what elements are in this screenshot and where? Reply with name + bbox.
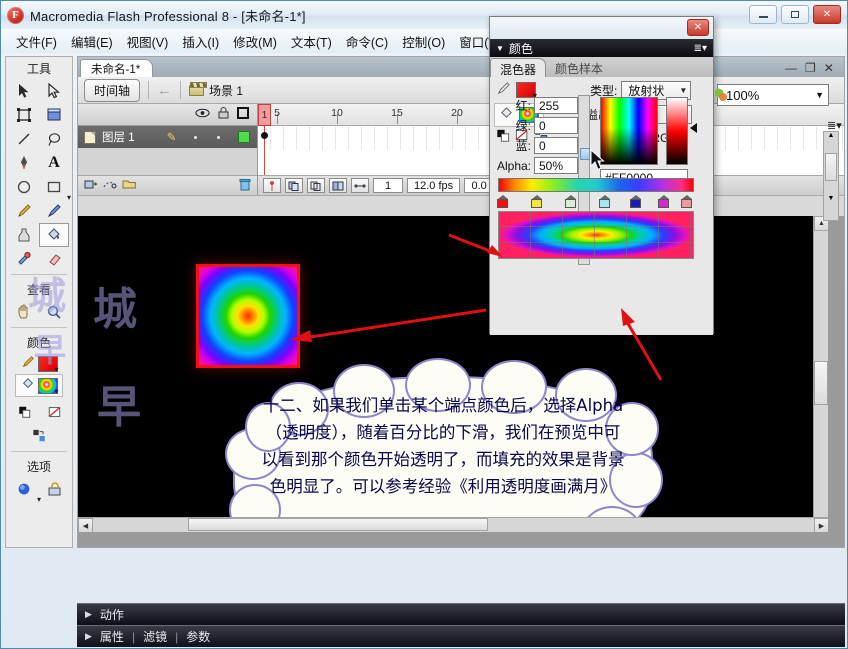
chevron-down-icon[interactable]: ▼ — [815, 90, 824, 100]
pen-tool[interactable] — [9, 151, 39, 175]
toolbar-divider-2 — [11, 327, 67, 328]
colors-section-title: 颜色 — [6, 331, 72, 353]
title-bar: F Macromedia Flash Professional 8 - [未命名… — [1, 1, 847, 29]
color-mixer-panel: ✕ ▼ 颜色 ≣▾ 混色器 颜色样本 ▾ ▾ — [489, 16, 714, 334]
ruler-number: 20 — [451, 107, 463, 119]
timeline-button[interactable]: 时间轴 — [84, 79, 140, 102]
toolbar-divider-2 — [180, 81, 181, 99]
tab-filters[interactable]: 滤镜 — [143, 628, 167, 645]
field-green: 绿: 0 — [494, 117, 578, 134]
tab-swatches[interactable]: 颜色样本 — [546, 58, 612, 77]
bubble-lobe — [333, 364, 395, 418]
tab-parameters[interactable]: 参数 — [186, 628, 210, 645]
layer-column: 图层 1 ✎ — [78, 104, 258, 195]
swap-colors-icon[interactable] — [24, 424, 54, 448]
lasso-tool[interactable] — [39, 127, 69, 151]
options-section-title: 选项 — [6, 455, 72, 477]
back-arrow-icon[interactable]: ← — [157, 82, 172, 99]
gradient-preview — [498, 211, 694, 259]
tools-section-title: 工具 — [6, 57, 72, 79]
mouse-cursor-icon — [590, 149, 606, 171]
annotation-arrow-preview — [613, 306, 668, 384]
actions-panel[interactable]: ▶ 动作 — [77, 603, 845, 625]
window-controls: ✕ — [749, 5, 841, 24]
oval-tool[interactable] — [9, 175, 39, 199]
timeline-area: 图层 1 ✎ — [78, 104, 844, 196]
transparency-grid — [499, 212, 693, 258]
menu-insert[interactable]: 插入(I) — [175, 30, 226, 53]
layer-column-header — [78, 104, 257, 126]
current-frame-field[interactable]: 1 — [373, 178, 403, 193]
zoom-tool[interactable] — [39, 300, 69, 324]
fill-color-row: ▾ — [15, 374, 63, 397]
luminance-marker-icon — [690, 123, 697, 133]
blue-label: 蓝: — [516, 137, 531, 154]
cp-rgba-fields: 红: 255 绿: 0 蓝: 0 Alpha: 50% — [494, 97, 578, 174]
document-tab[interactable]: 未命名-1* — [80, 59, 153, 77]
pencil-stroke-icon — [21, 355, 35, 372]
onion-skin-outlines-icon[interactable] — [307, 178, 325, 193]
outline-icon[interactable] — [237, 107, 249, 122]
brush-tool[interactable] — [39, 199, 69, 223]
ruler-number: 10 — [331, 107, 343, 119]
menu-text[interactable]: 文本(T) — [284, 30, 339, 53]
doc-restore-button[interactable]: ❐ — [805, 61, 816, 75]
fill-color-swatch[interactable]: ▾ — [38, 378, 58, 394]
hand-tool[interactable] — [9, 300, 39, 324]
color-panel-title: 颜色 — [509, 40, 533, 57]
bubble-lobe — [605, 402, 659, 456]
panel-separator: | — [132, 630, 135, 644]
hscroll-thumb[interactable] — [188, 518, 488, 531]
tab-mixer[interactable]: 混色器 — [490, 58, 546, 77]
paint-bucket-tool[interactable] — [39, 223, 69, 247]
annotation-arrow-alpha — [447, 233, 509, 261]
color-panel-titlebar[interactable]: ▼ 颜色 ≣▾ — [490, 39, 713, 57]
options-grid: ▾ — [6, 477, 72, 501]
menu-modify[interactable]: 修改(M) — [226, 30, 284, 53]
black-and-white-icon[interactable] — [9, 400, 39, 424]
document-tabstrip: 未命名-1* — [78, 57, 844, 77]
menu-file[interactable]: 文件(F) — [9, 30, 64, 53]
doc-window-controls: — ❐ ✕ — [785, 61, 834, 75]
doc-scroll-up-arrow[interactable]: ▲ — [824, 132, 838, 139]
view-tools-grid — [6, 300, 72, 324]
clapperboard-icon — [189, 85, 204, 96]
maximize-button[interactable] — [781, 5, 809, 24]
stroke-color-swatch[interactable]: ▾ — [38, 356, 58, 372]
vscroll-thumb[interactable] — [814, 361, 828, 405]
tools-panel: 工具 A — [5, 56, 73, 548]
cp-stroke-swatch[interactable]: ▾ — [516, 82, 536, 98]
gradient-stop[interactable] — [565, 195, 576, 208]
application-window: F Macromedia Flash Professional 8 - [未命名… — [0, 0, 848, 649]
modify-onion-markers-icon[interactable] — [351, 178, 369, 193]
bubble-lobe — [269, 382, 329, 436]
menu-control[interactable]: 控制(O) — [395, 30, 452, 53]
insert-folder-icon[interactable] — [122, 178, 137, 193]
scroll-right-arrow[interactable]: ▶ — [814, 518, 828, 532]
red-input[interactable]: 255 — [534, 97, 578, 114]
properties-panel[interactable]: ▶ 属性 | 滤镜 | 参数 — [77, 625, 845, 647]
lock-fill-option-icon[interactable] — [39, 477, 69, 501]
bubble-lobe — [405, 358, 471, 412]
scene-label: 场景 1 — [209, 82, 243, 99]
playhead[interactable]: 1 — [258, 104, 271, 126]
expand-arrow-icon[interactable]: ▶ — [85, 609, 92, 620]
red-label: 红: — [516, 97, 531, 114]
layer-visible-dot[interactable] — [194, 136, 197, 139]
bucket-fill-icon — [21, 377, 35, 394]
field-red: 红: 255 — [494, 97, 578, 114]
bubble-lobe — [245, 402, 291, 452]
color-panel-close-bar: ✕ — [490, 17, 713, 39]
radial-gradient-shape[interactable] — [196, 264, 300, 368]
color-option-icons — [6, 400, 72, 448]
keyframe-marker[interactable] — [261, 132, 268, 139]
line-tool[interactable] — [9, 127, 39, 151]
rectangle-tool[interactable]: ▾ — [39, 175, 69, 199]
callout-text: 十二、如果我们单击某个端点颜色后，选择Alpha（透明度），随着百分比的下滑，我… — [261, 392, 625, 500]
stage-horizontal-scrollbar[interactable]: ◀ ▶ — [78, 517, 828, 532]
document-panel: 未命名-1* 时间轴 ← 场景 1 — [77, 56, 845, 548]
delete-layer-icon[interactable] — [239, 178, 251, 194]
lock-icon[interactable] — [218, 107, 229, 122]
luminance-slider[interactable] — [666, 97, 688, 165]
view-section-title: 查看 — [6, 278, 72, 300]
zoom-palette-icon[interactable] — [713, 87, 730, 106]
ruler-number: 5 — [274, 107, 280, 119]
close-button[interactable]: ✕ — [813, 5, 841, 24]
actions-panel-label: 动作 — [100, 606, 124, 623]
layer-footer — [78, 175, 257, 195]
field-alpha: Alpha: 50% — [494, 157, 578, 174]
toolbar-divider — [148, 81, 149, 99]
gradient-strip[interactable] — [498, 178, 694, 192]
flash-app-icon: F — [7, 7, 24, 24]
bubble-lobe — [555, 368, 617, 422]
pencil-tool[interactable] — [9, 199, 39, 223]
bubble-lobe — [481, 360, 547, 414]
stage-canvas[interactable]: 十二、如果我们单击某个端点颜色后，选择Alpha（透明度），随着百分比的下滑，我… — [78, 216, 828, 532]
color-panel-body: ▾ ▾ 类型: — [490, 77, 713, 335]
stroke-color-row: ▾ — [6, 353, 72, 374]
menu-bar: 文件(F) 编辑(E) 视图(V) 插入(I) 修改(M) 文本(T) 命令(C… — [1, 29, 847, 53]
pencil-icon: ✎ — [167, 130, 177, 144]
tab-properties[interactable]: 属性 — [100, 628, 124, 645]
gradient-stop[interactable] — [658, 195, 669, 208]
green-input[interactable]: 0 — [534, 117, 578, 134]
panel-separator-2: | — [175, 630, 178, 644]
color-panel-tabs: 混色器 颜色样本 — [490, 57, 713, 77]
gradient-fill-option-icon[interactable]: ▾ — [9, 477, 39, 501]
gradient-stop[interactable] — [630, 195, 641, 208]
doc-scroll-down-arrow[interactable]: ▼ — [824, 195, 838, 202]
alpha-label: Alpha: — [497, 159, 531, 173]
edit-multiple-frames-icon[interactable] — [329, 178, 347, 193]
onion-skin-icon[interactable] — [285, 178, 303, 193]
expand-arrow-icon-2[interactable]: ▶ — [85, 631, 92, 642]
gradient-transform-tool[interactable] — [39, 103, 69, 127]
minimize-button[interactable] — [749, 5, 777, 24]
collapse-triangle-icon[interactable]: ▼ — [496, 44, 504, 53]
blue-input[interactable]: 0 — [534, 137, 578, 154]
annotation-arrow-shape — [286, 306, 491, 346]
toolbar-divider-1 — [11, 274, 67, 275]
green-label: 绿: — [516, 117, 531, 134]
panel-menu-icon[interactable]: ≣▾ — [694, 43, 707, 54]
scene-indicator[interactable]: 场景 1 — [189, 82, 243, 99]
timeline-options-icon[interactable]: ≣▾ — [827, 119, 842, 132]
selection-tool[interactable] — [9, 79, 39, 103]
free-transform-tool[interactable] — [9, 103, 39, 127]
scroll-left-arrow[interactable]: ◀ — [78, 518, 93, 532]
alpha-input[interactable]: 50% — [534, 157, 578, 174]
alpha-slider-thumb[interactable] — [580, 148, 590, 160]
layer-page-icon — [84, 131, 96, 144]
callout-bubble: 十二、如果我们单击某个端点颜色后，选择Alpha（透明度），随着百分比的下滑，我… — [233, 376, 653, 532]
menu-view[interactable]: 视图(V) — [120, 30, 176, 53]
toolbar-divider-3 — [11, 451, 67, 452]
gradient-stop[interactable] — [497, 195, 508, 208]
doc-minimize-button[interactable]: — — [785, 61, 797, 75]
bubble-lobe — [609, 452, 663, 508]
stage-vertical-scrollbar[interactable]: ▲ ▼ — [813, 216, 828, 532]
ink-bottle-tool[interactable] — [9, 223, 39, 247]
subselection-tool[interactable] — [39, 79, 69, 103]
zoom-control[interactable]: 100% ▼ — [717, 84, 829, 106]
saturation-brightness-picker[interactable] — [600, 97, 658, 165]
doc-vscroll[interactable]: ▲ ▼ — [823, 131, 839, 221]
stage-wrapper: 十二、如果我们单击某个端点颜色后，选择Alpha（透明度），随着百分比的下滑，我… — [78, 216, 844, 547]
gradient-stop[interactable] — [531, 195, 542, 208]
center-frame-icon[interactable] — [263, 178, 281, 193]
insert-layer-icon[interactable] — [84, 178, 98, 193]
menu-commands[interactable]: 命令(C) — [339, 30, 395, 53]
eye-icon[interactable] — [195, 108, 210, 121]
ruler-number: 15 — [391, 107, 403, 119]
layer-lock-dot[interactable] — [217, 136, 220, 139]
gradient-stop[interactable] — [681, 195, 692, 208]
layer-outline-color[interactable] — [238, 131, 250, 143]
fps-field[interactable]: 12.0 fps — [407, 178, 460, 193]
field-blue: 蓝: 0 — [494, 137, 578, 154]
menu-edit[interactable]: 编辑(E) — [64, 30, 120, 53]
eyedropper-tool[interactable] — [9, 247, 39, 271]
doc-close-button[interactable]: ✕ — [824, 61, 834, 75]
text-tool[interactable]: A — [39, 151, 69, 175]
doc-vscroll-thumb[interactable] — [825, 153, 837, 181]
eraser-tool[interactable] — [39, 247, 69, 271]
tools-grid: A ▾ — [6, 79, 72, 271]
zoom-value: 100% — [726, 88, 759, 103]
callout-bubble-body — [233, 376, 653, 532]
layer-name: 图层 1 — [102, 129, 135, 145]
layer-row[interactable]: 图层 1 ✎ — [78, 126, 257, 148]
gradient-stop[interactable] — [599, 195, 610, 208]
no-color-icon[interactable] — [39, 400, 69, 424]
color-panel-close-button[interactable]: ✕ — [687, 19, 709, 36]
window-title: Macromedia Flash Professional 8 - [未命名-1… — [30, 6, 306, 25]
chevron-down-icon: ▼ — [679, 86, 687, 95]
add-motion-guide-icon[interactable] — [103, 178, 117, 193]
bubble-lobe — [225, 428, 281, 480]
